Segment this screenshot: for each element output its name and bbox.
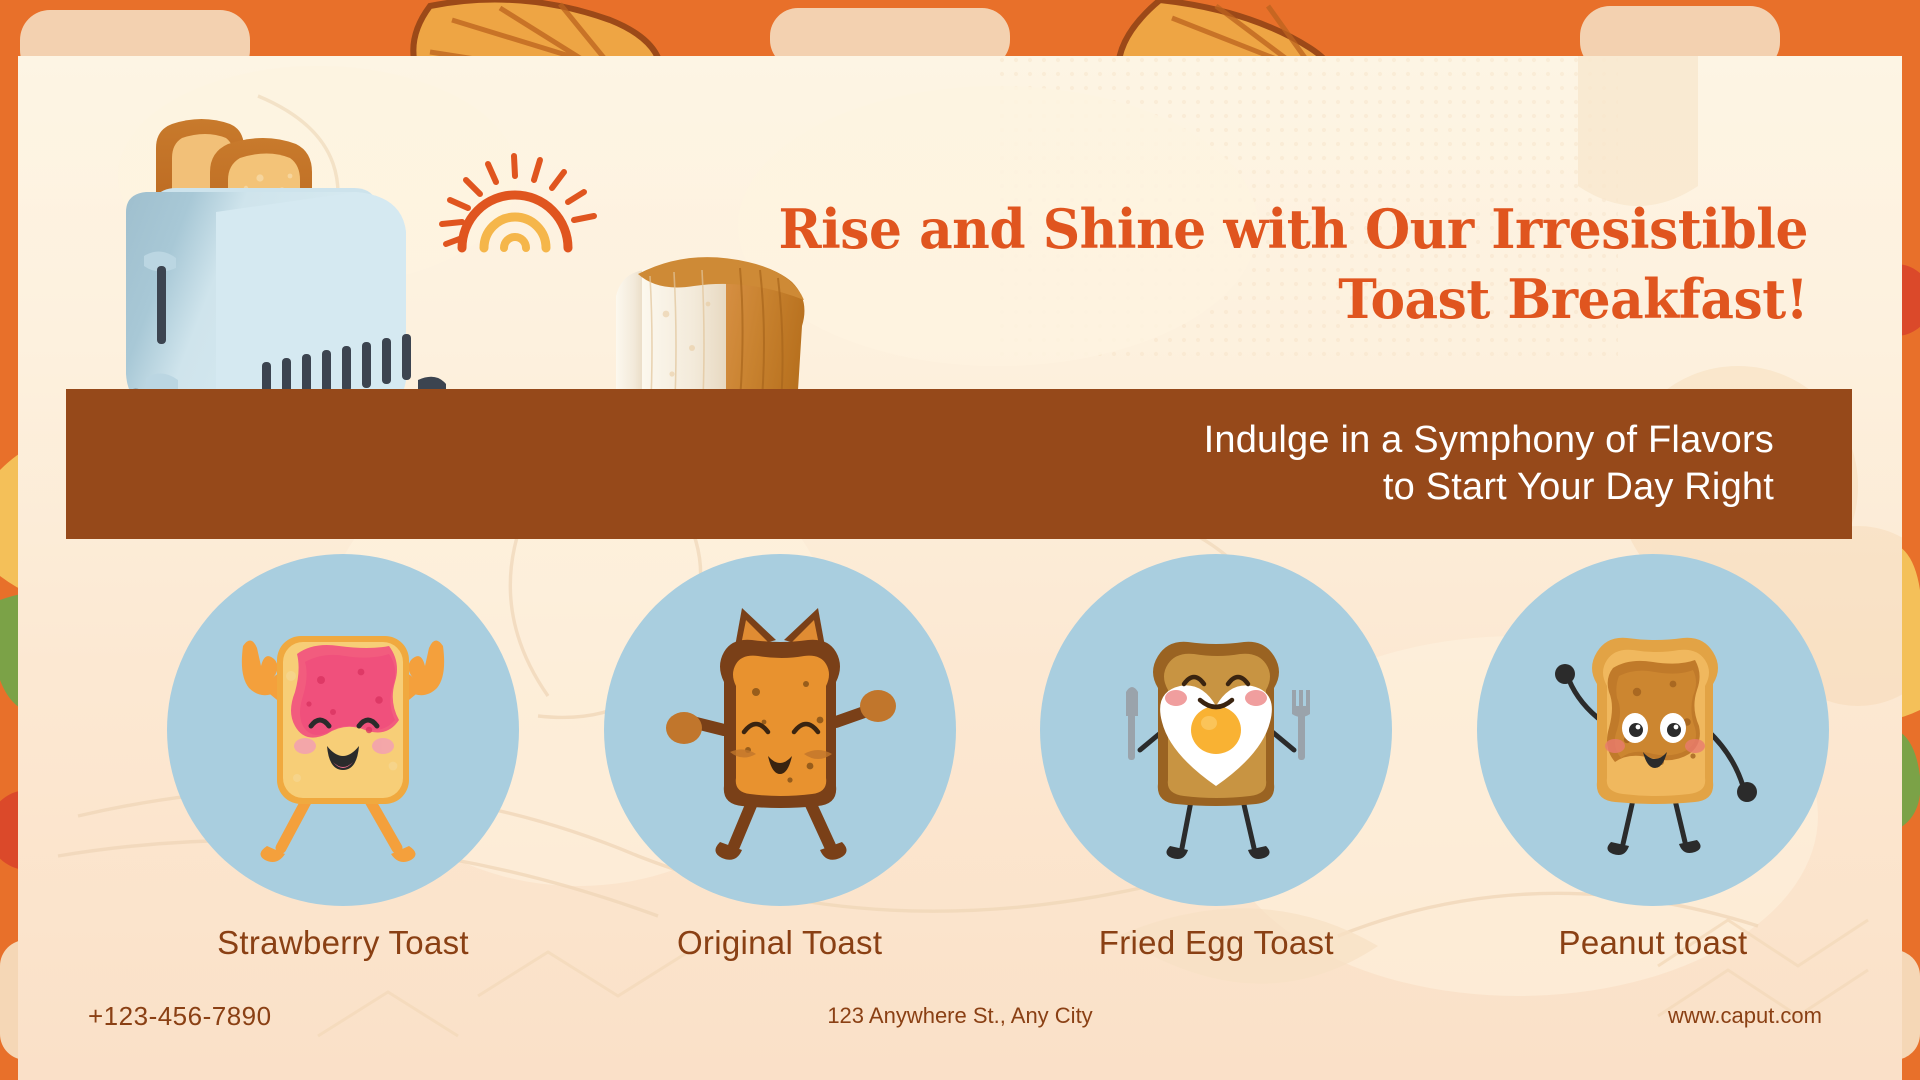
product-image-circle xyxy=(167,554,519,906)
product-image-circle xyxy=(1040,554,1392,906)
subheading-banner: Indulge in a Symphony of Flavors to Star… xyxy=(66,389,1852,539)
product-label: Strawberry Toast xyxy=(217,924,469,962)
headline-line-2: Toast Breakfast! xyxy=(762,268,1808,332)
product-label: Original Toast xyxy=(677,924,882,962)
footer-website[interactable]: www.caput.com xyxy=(1668,1003,1822,1029)
product-card-peanut-toast[interactable]: Peanut toast xyxy=(1458,554,1848,962)
product-label: Peanut toast xyxy=(1559,924,1748,962)
footer-contact-bar: +123-456-7890 123 Anywhere St., Any City… xyxy=(18,996,1902,1036)
poster-canvas: Rise and Shine with Our Irresistible Toa… xyxy=(0,0,1920,1080)
sunrise-icon xyxy=(436,136,606,256)
headline-line-1: Rise and Shine with Our Irresistible xyxy=(762,198,1808,262)
subheading-line-2: to Start Your Day Right xyxy=(1383,464,1774,512)
product-image-circle xyxy=(604,554,956,906)
headline: Rise and Shine with Our Irresistible Toa… xyxy=(762,198,1808,331)
strawberry-toast-character xyxy=(193,580,493,880)
poster-card: Rise and Shine with Our Irresistible Toa… xyxy=(18,56,1902,1080)
product-image-circle xyxy=(1477,554,1829,906)
product-row: Strawberry Toast xyxy=(148,554,1848,984)
product-card-strawberry-toast[interactable]: Strawberry Toast xyxy=(148,554,538,962)
subheading-line-1: Indulge in a Symphony of Flavors xyxy=(1204,417,1774,465)
fried-egg-toast-character xyxy=(1066,580,1366,880)
product-label: Fried Egg Toast xyxy=(1099,924,1334,962)
peanut-toast-character xyxy=(1503,580,1803,880)
product-card-original-toast[interactable]: Original Toast xyxy=(585,554,975,962)
original-toast-character xyxy=(630,580,930,880)
subheading: Indulge in a Symphony of Flavors to Star… xyxy=(66,389,1852,539)
product-card-fried-egg-toast[interactable]: Fried Egg Toast xyxy=(1021,554,1411,962)
footer-address: 123 Anywhere St., Any City xyxy=(18,1003,1902,1029)
